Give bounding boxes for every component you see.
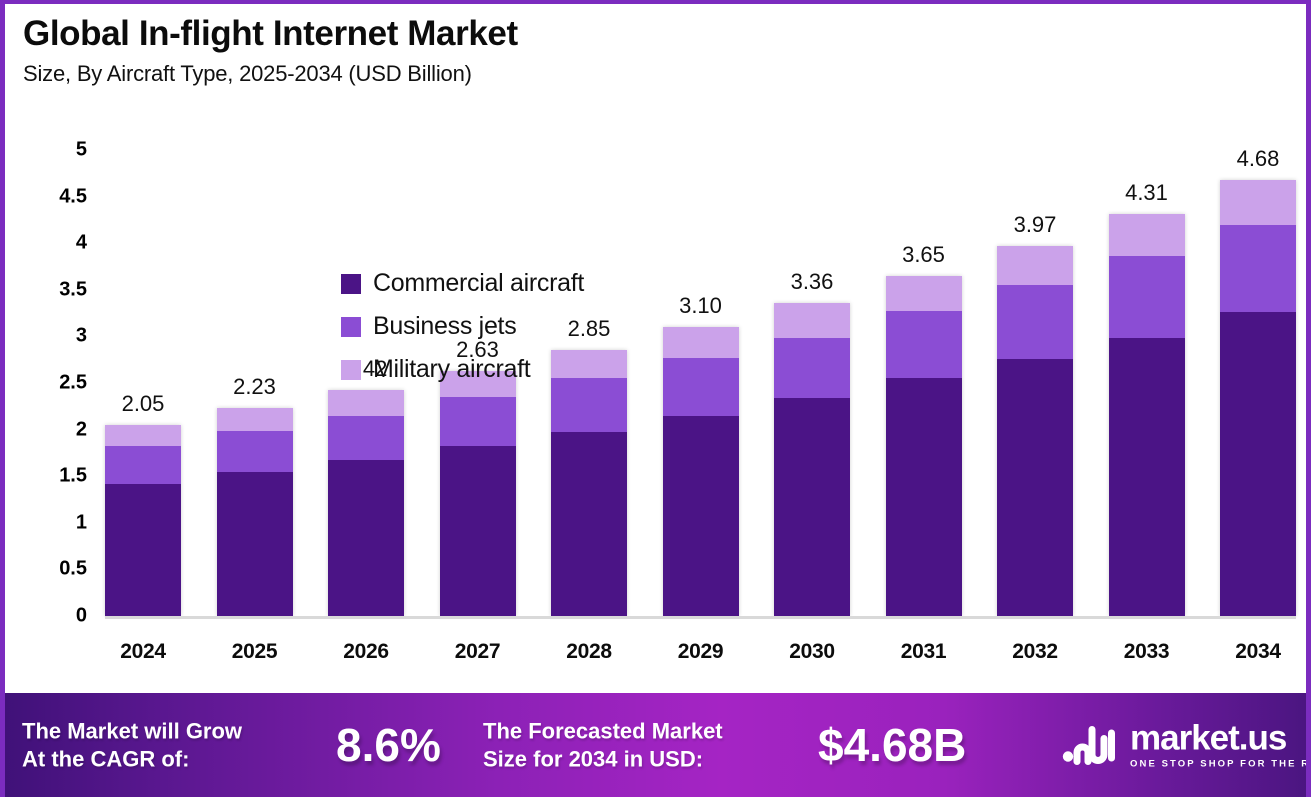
bar-value-label: 3.65 <box>902 242 945 268</box>
infographic-root: Global In-flight Internet Market Size, B… <box>0 0 1311 797</box>
bar-segment-business-jets[interactable] <box>1109 256 1185 338</box>
x-tick-label: 2033 <box>1109 640 1185 664</box>
legend-swatch-icon <box>341 317 361 337</box>
y-tick-label: 4.5 <box>59 185 87 208</box>
x-tick-label: 2030 <box>774 640 850 664</box>
x-tick-label: 2029 <box>663 640 739 664</box>
x-tick-label: 2034 <box>1220 640 1296 664</box>
stacked-bar[interactable] <box>1109 214 1185 616</box>
x-tick-label: 2027 <box>440 640 516 664</box>
bar-segment-commercial-aircraft[interactable] <box>1220 312 1296 616</box>
chart: 00.511.522.533.544.55 2.052.232.422.632.… <box>5 129 1306 689</box>
y-tick-label: 3.5 <box>59 278 87 301</box>
bar-column[interactable]: 2.05 <box>105 129 181 616</box>
bar-segment-business-jets[interactable] <box>886 311 962 378</box>
bar-value-label: 4.68 <box>1237 146 1280 172</box>
bar-segment-commercial-aircraft[interactable] <box>440 446 516 616</box>
stacked-bar[interactable] <box>774 303 850 616</box>
bar-column[interactable]: 3.36 <box>774 129 850 616</box>
bar-segment-business-jets[interactable] <box>663 358 739 416</box>
y-tick-label: 5 <box>76 139 87 162</box>
footer-cagr-value: 8.6% <box>336 718 441 772</box>
legend-label: Commercial aircraft <box>373 269 584 298</box>
legend: Commercial aircraftBusiness jetsMilitary… <box>341 269 584 398</box>
x-tick-label: 2024 <box>105 640 181 664</box>
bar-segment-business-jets[interactable] <box>774 338 850 398</box>
bar-segment-commercial-aircraft[interactable] <box>1109 338 1185 616</box>
bar-segment-military-aircraft[interactable] <box>1220 180 1296 226</box>
legend-label: Business jets <box>373 312 516 341</box>
legend-item-commercial[interactable]: Commercial aircraft <box>341 269 584 298</box>
bar-value-label: 2.23 <box>233 374 276 400</box>
legend-label: Military aircraft <box>373 355 530 384</box>
footer-bar: The Market will Grow At the CAGR of: 8.6… <box>0 693 1311 797</box>
footer-size-label: The Forecasted Market Size for 2034 in U… <box>483 718 723 773</box>
y-tick-label: 0 <box>76 605 87 628</box>
y-tick-label: 1.5 <box>59 465 87 488</box>
legend-swatch-icon <box>341 274 361 294</box>
x-tick-label: 2025 <box>217 640 293 664</box>
brand-tagline: ONE STOP SHOP FOR THE REPORTS <box>1130 759 1311 770</box>
stacked-bar[interactable] <box>886 276 962 616</box>
legend-swatch-icon <box>341 360 361 380</box>
footer-size-label-line2: Size for 2034 in USD: <box>483 745 723 773</box>
bar-segment-commercial-aircraft[interactable] <box>105 484 181 616</box>
bar-column[interactable]: 3.97 <box>997 129 1073 616</box>
x-tick-label: 2026 <box>328 640 404 664</box>
bar-segment-business-jets[interactable] <box>1220 225 1296 312</box>
bar-segment-commercial-aircraft[interactable] <box>997 359 1073 616</box>
bar-segment-commercial-aircraft[interactable] <box>328 460 404 616</box>
bar-value-label: 3.97 <box>1014 212 1057 238</box>
bar-segment-commercial-aircraft[interactable] <box>217 472 293 616</box>
x-tick-label: 2028 <box>551 640 627 664</box>
bar-segment-business-jets[interactable] <box>217 431 293 472</box>
y-tick-label: 0.5 <box>59 558 87 581</box>
bar-column[interactable]: 3.10 <box>663 129 739 616</box>
bar-segment-military-aircraft[interactable] <box>217 408 293 431</box>
x-axis: 2024202520262027202820292030203120322033… <box>105 629 1296 675</box>
y-tick-label: 4 <box>76 232 87 255</box>
stacked-bar[interactable] <box>440 371 516 616</box>
stacked-bar[interactable] <box>328 390 404 616</box>
stacked-bar[interactable] <box>1220 180 1296 616</box>
bar-segment-commercial-aircraft[interactable] <box>551 432 627 616</box>
stacked-bar[interactable] <box>217 408 293 616</box>
x-axis-line <box>105 616 1296 619</box>
y-tick-label: 2 <box>76 418 87 441</box>
bar-segment-business-jets[interactable] <box>440 397 516 446</box>
bar-column[interactable]: 3.65 <box>886 129 962 616</box>
bar-segment-business-jets[interactable] <box>105 446 181 483</box>
x-tick-label: 2031 <box>886 640 962 664</box>
bar-segment-military-aircraft[interactable] <box>663 327 739 358</box>
footer-size-value: $4.68B <box>818 718 966 772</box>
bar-segment-military-aircraft[interactable] <box>774 303 850 338</box>
bar-segment-commercial-aircraft[interactable] <box>663 416 739 616</box>
bar-column[interactable]: 4.68 <box>1220 129 1296 616</box>
y-tick-label: 1 <box>76 511 87 534</box>
bar-value-label: 4.31 <box>1125 180 1168 206</box>
page-subtitle: Size, By Aircraft Type, 2025-2034 (USD B… <box>23 61 518 87</box>
footer-size-label-line1: The Forecasted Market <box>483 718 723 746</box>
market-us-logo-icon <box>1062 724 1118 766</box>
stacked-bar[interactable] <box>997 246 1073 616</box>
legend-item-business[interactable]: Business jets <box>341 312 584 341</box>
bar-value-label: 2.05 <box>122 391 165 417</box>
brand-wordmark: market.us <box>1130 719 1286 758</box>
page-title: Global In-flight Internet Market <box>23 16 518 53</box>
y-tick-label: 3 <box>76 325 87 348</box>
bar-segment-commercial-aircraft[interactable] <box>774 398 850 616</box>
bar-value-label: 3.10 <box>679 293 722 319</box>
x-tick-label: 2032 <box>997 640 1073 664</box>
bar-segment-business-jets[interactable] <box>997 285 1073 359</box>
bar-segment-military-aircraft[interactable] <box>1109 214 1185 256</box>
legend-item-military[interactable]: Military aircraft <box>341 355 584 384</box>
plot-area: 2.052.232.422.632.853.103.363.653.974.31… <box>105 129 1296 619</box>
footer-cagr-label: The Market will Grow At the CAGR of: <box>22 718 242 773</box>
bar-column[interactable]: 4.31 <box>1109 129 1185 616</box>
bar-segment-business-jets[interactable] <box>328 416 404 461</box>
bar-segment-commercial-aircraft[interactable] <box>886 378 962 616</box>
brand-logo[interactable]: market.us ONE STOP SHOP FOR THE REPORTS <box>1062 721 1311 770</box>
bar-segment-military-aircraft[interactable] <box>886 276 962 311</box>
y-tick-label: 2.5 <box>59 372 87 395</box>
bar-value-label: 3.36 <box>791 269 834 295</box>
bar-segment-military-aircraft[interactable] <box>997 246 1073 285</box>
y-axis: 00.511.522.533.544.55 <box>5 129 97 619</box>
footer-cagr-label-line1: The Market will Grow <box>22 718 242 746</box>
bar-column[interactable]: 2.23 <box>217 129 293 616</box>
footer-cagr-label-line2: At the CAGR of: <box>22 745 242 773</box>
bar-segment-military-aircraft[interactable] <box>105 425 181 446</box>
brand-text-block: market.us ONE STOP SHOP FOR THE REPORTS <box>1130 721 1311 770</box>
stacked-bar[interactable] <box>105 425 181 616</box>
bar-group: 2.052.232.422.632.853.103.363.653.974.31… <box>105 129 1296 616</box>
stacked-bar[interactable] <box>663 327 739 616</box>
header: Global In-flight Internet Market Size, B… <box>23 16 518 87</box>
